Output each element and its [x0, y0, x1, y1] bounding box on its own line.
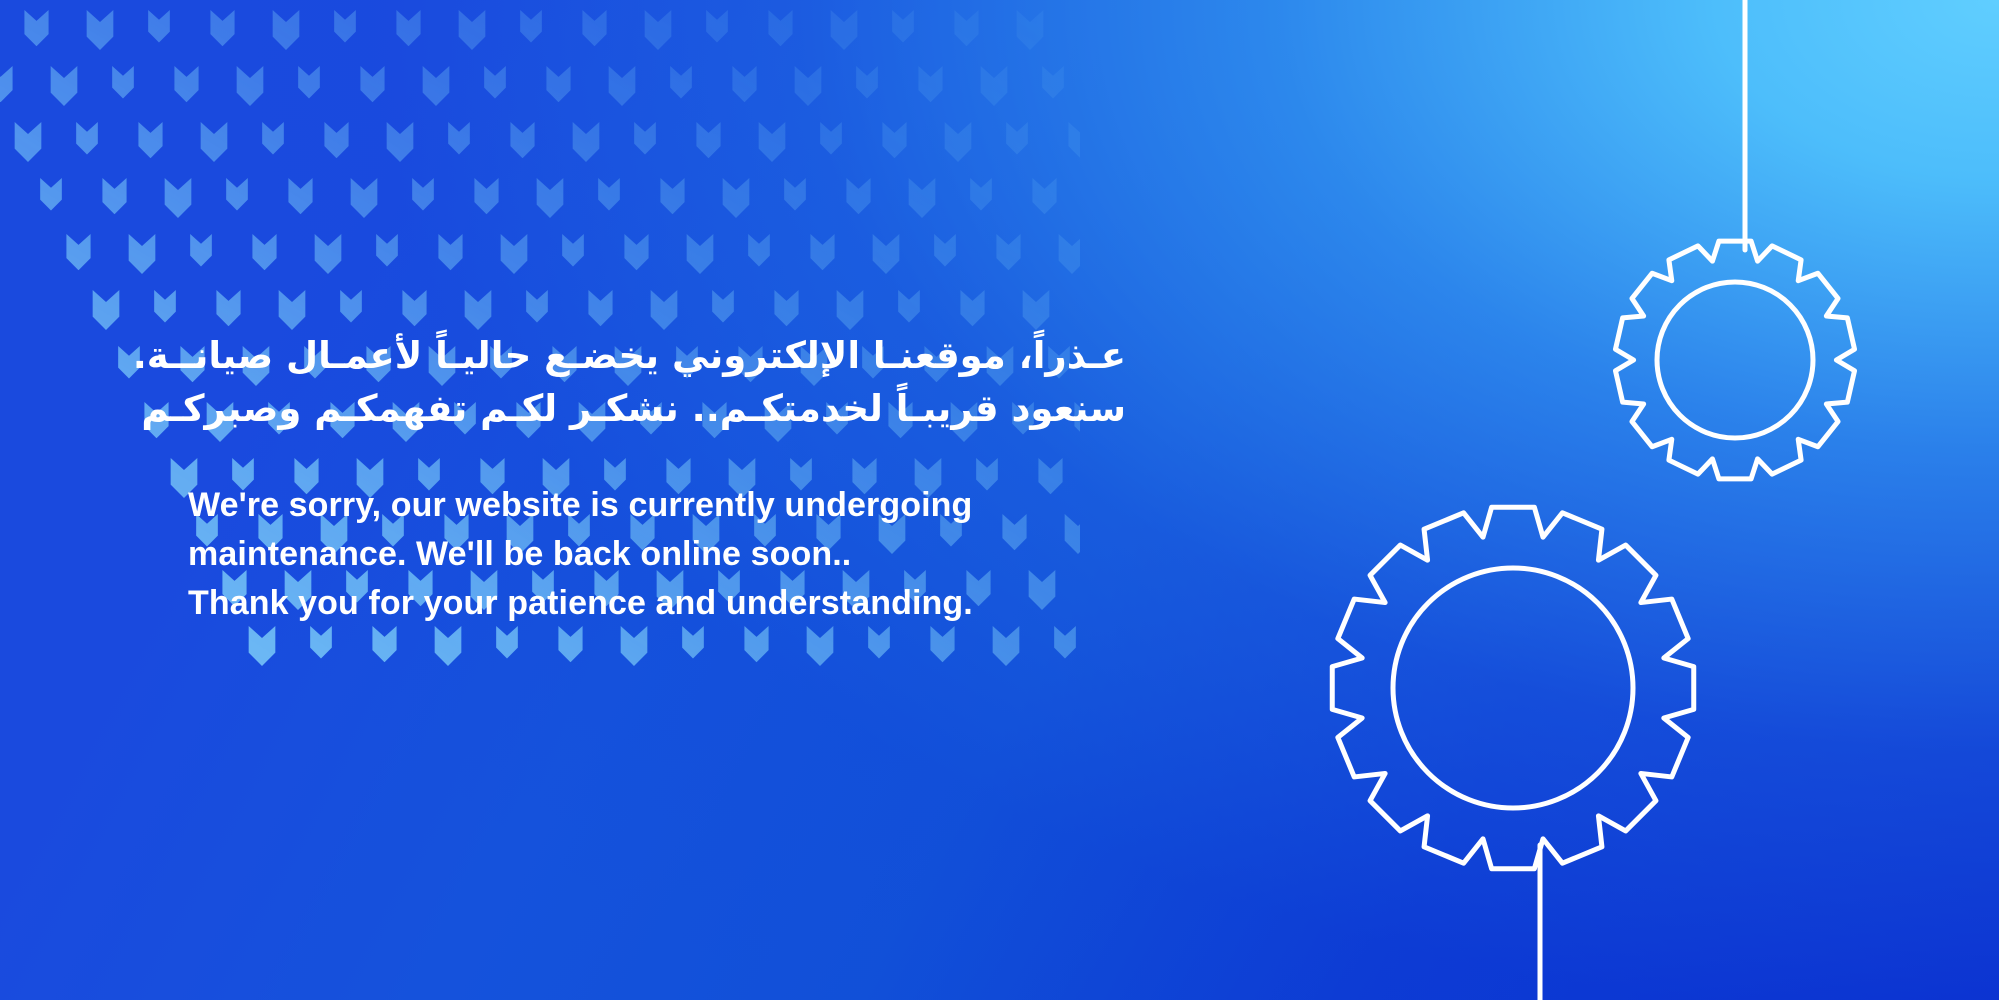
maintenance-page: عـذراً، موقعنـا الإلكتروني يخضـع حاليـاً…	[0, 0, 1999, 1000]
arabic-line-1: عـذراً، موقعنـا الإلكتروني يخضـع حاليـاً…	[188, 330, 1126, 383]
english-message: We're sorry, our website is currently un…	[188, 481, 1188, 628]
large-gear-outline	[1332, 507, 1693, 868]
arabic-message: عـذراً، موقعنـا الإلكتروني يخضـع حاليـاً…	[188, 330, 1126, 435]
english-line-1: We're sorry, our website is currently un…	[188, 481, 1188, 530]
small-gear-inner-circle	[1657, 282, 1813, 438]
maintenance-message: عـذراً، موقعنـا الإلكتروني يخضـع حاليـاً…	[188, 330, 1188, 628]
small-gear-outline	[1615, 241, 1854, 479]
english-line-2: maintenance. We'll be back online soon..	[188, 530, 1188, 579]
arabic-line-2: سنعود قريبـاً لخدمتكـم.. نشكـر لكـم تفهم…	[188, 383, 1126, 436]
large-gear-inner-circle	[1393, 568, 1633, 808]
english-line-3: Thank you for your patience and understa…	[188, 579, 1188, 628]
